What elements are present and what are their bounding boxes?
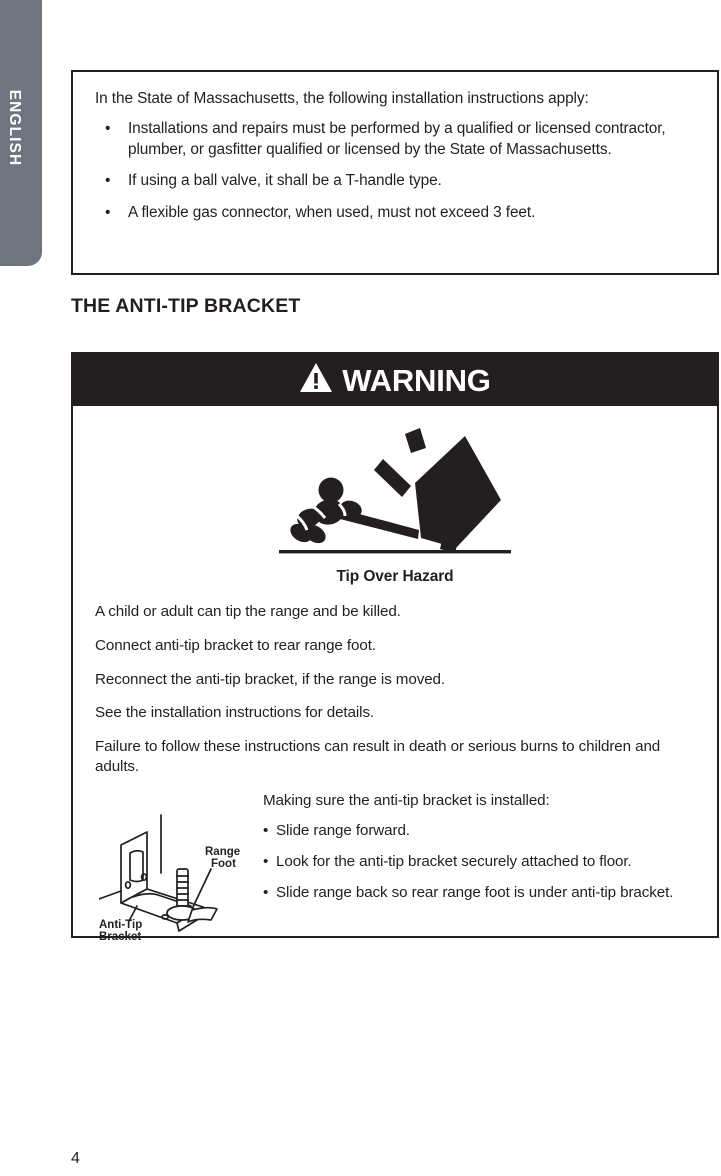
tip-over-hazard-illustration (279, 412, 511, 565)
steps-intro-text: Making sure the anti-tip bracket is inst… (263, 791, 695, 811)
warning-banner-label: WARNING (342, 365, 490, 396)
list-item-text: A flexible gas connector, when used, mus… (128, 204, 535, 221)
warning-statement: Failure to follow these instructions can… (95, 737, 695, 777)
bullet-glyph: • (105, 119, 110, 139)
massachusetts-notice-box: In the State of Massachusetts, the follo… (71, 70, 719, 275)
page-title: THE ANTI-TIP BRACKET (71, 295, 300, 318)
list-item: • Slide range forward. (263, 821, 695, 841)
list-item: • A flexible gas connector, when used, m… (95, 203, 695, 223)
warning-banner: WARNING (73, 354, 717, 406)
list-item: • Slide range back so rear range foot is… (263, 883, 695, 903)
anti-tip-bracket-diagram: Range Foot Anti-Tip Bracket (99, 811, 251, 946)
diagram-label-anti-tip-line2: Bracket (99, 931, 141, 941)
diagram-label-anti-tip-line1: Anti-Tip (99, 919, 142, 931)
warning-statement: A child or adult can tip the range and b… (95, 602, 695, 622)
list-item-text: Slide range forward. (276, 822, 410, 839)
warning-statement: See the installation instructions for de… (95, 703, 695, 723)
bullet-glyph: • (263, 821, 268, 841)
list-item: • If using a ball valve, it shall be a T… (95, 171, 695, 191)
warning-statement: Connect anti-tip bracket to rear range f… (95, 636, 695, 656)
bullet-glyph: • (263, 883, 268, 903)
warning-panel: WARNING (71, 352, 719, 938)
language-tab-english[interactable]: ENGLISH (0, 0, 42, 266)
hazard-caption: Tip Over Hazard (91, 568, 699, 586)
bullet-glyph: • (105, 171, 110, 191)
warning-triangle-icon (299, 362, 333, 398)
massachusetts-intro-text: In the State of Massachusetts, the follo… (95, 89, 695, 109)
warning-statement-list: A child or adult can tip the range and b… (91, 602, 699, 777)
page-number: 4 (71, 1150, 80, 1168)
list-item-text: Slide range back so rear range foot is u… (276, 884, 673, 901)
list-item: • Installations and repairs must be perf… (95, 119, 695, 160)
list-item-text: Look for the anti-tip bracket securely a… (276, 853, 632, 870)
warning-statement: Reconnect the anti-tip bracket, if the r… (95, 670, 695, 690)
warning-body: Tip Over Hazard A child or adult can tip… (73, 412, 717, 941)
diagram-label-range-foot-line2: Foot (211, 858, 236, 870)
verification-steps: Making sure the anti-tip bracket is inst… (263, 791, 695, 904)
bullet-glyph: • (263, 852, 268, 872)
list-item: • Look for the anti-tip bracket securely… (263, 852, 695, 872)
language-tab-label: ENGLISH (5, 90, 23, 167)
bracket-verification-row: Range Foot Anti-Tip Bracket Making sure … (91, 791, 699, 941)
diagram-label-range-foot-line1: Range (205, 846, 240, 858)
bullet-glyph: • (105, 203, 110, 223)
list-item-text: Installations and repairs must be perfor… (128, 120, 666, 157)
list-item-text: If using a ball valve, it shall be a T-h… (128, 172, 442, 189)
massachusetts-notice-content: In the State of Massachusetts, the follo… (73, 72, 717, 223)
massachusetts-bullet-list: • Installations and repairs must be perf… (95, 119, 695, 223)
steps-bullet-list: • Slide range forward. • Look for the an… (263, 821, 695, 903)
